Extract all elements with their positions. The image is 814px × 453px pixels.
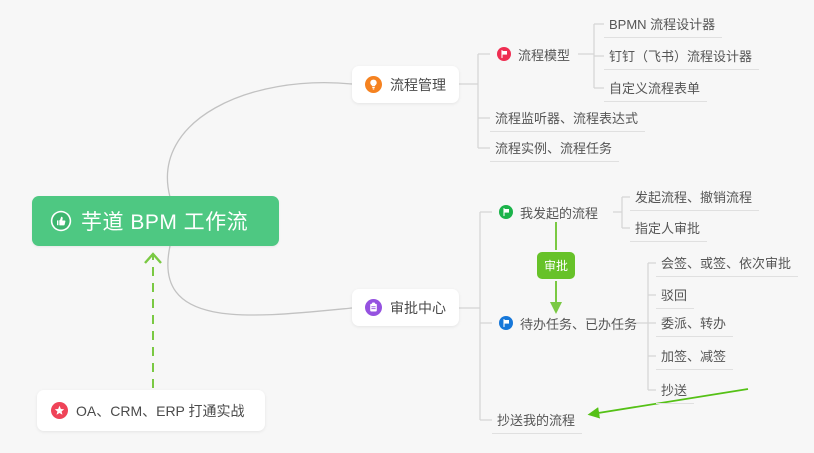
branch-node-approval-center[interactable]: 审批中心 bbox=[352, 289, 459, 326]
note-node-integration[interactable]: OA、CRM、ERP 打通实战 bbox=[37, 390, 265, 431]
topic-cc-my-process[interactable]: 抄送我的流程 bbox=[492, 406, 582, 434]
topic-label-process-listener: 流程监听器、流程表达式 bbox=[495, 108, 638, 127]
topic-assigned-approval[interactable]: 指定人审批 bbox=[630, 214, 707, 242]
topic-bpmn-designer[interactable]: BPMN 流程设计器 bbox=[604, 10, 722, 38]
topic-label-todo-done-tasks: 待办任务、已办任务 bbox=[520, 314, 637, 333]
note-node-label: OA、CRM、ERP 打通实战 bbox=[76, 401, 245, 421]
topic-delegate-transfer[interactable]: 委派、转办 bbox=[656, 309, 733, 337]
connector-root-to-approval bbox=[168, 246, 352, 315]
topic-label-dingtalk-designer: 钉钉（飞书）流程设计器 bbox=[609, 46, 752, 65]
topic-todo-done-tasks[interactable]: 待办任务、已办任务 bbox=[494, 309, 644, 337]
topic-reject[interactable]: 驳回 bbox=[656, 281, 694, 309]
thumbs-up-icon bbox=[50, 210, 72, 232]
topic-add-remove-sign[interactable]: 加签、减签 bbox=[656, 342, 733, 370]
topic-label-process-model: 流程模型 bbox=[518, 45, 570, 64]
topic-label-cc-my-process: 抄送我的流程 bbox=[497, 410, 575, 429]
lightbulb-icon bbox=[365, 76, 382, 93]
branch-label-process-management: 流程管理 bbox=[390, 75, 446, 95]
flag-icon bbox=[499, 205, 513, 219]
topic-custom-form[interactable]: 自定义流程表单 bbox=[604, 74, 707, 102]
flag-icon bbox=[497, 47, 511, 61]
topic-label-my-started-process: 我发起的流程 bbox=[520, 203, 598, 222]
topic-cc[interactable]: 抄送 bbox=[656, 376, 694, 404]
star-icon bbox=[51, 402, 68, 419]
topic-my-started-process[interactable]: 我发起的流程 bbox=[494, 198, 605, 226]
topic-label-add-remove-sign: 加签、减签 bbox=[661, 346, 726, 365]
topic-label-delegate-transfer: 委派、转办 bbox=[661, 313, 726, 332]
callout-approval-label: 审批 bbox=[544, 257, 568, 274]
topic-label-bpmn-designer: BPMN 流程设计器 bbox=[609, 14, 715, 33]
root-node-label: 芋道 BPM 工作流 bbox=[81, 206, 248, 236]
root-node[interactable]: 芋道 BPM 工作流 bbox=[32, 196, 279, 246]
topic-countersign[interactable]: 会签、或签、依次审批 bbox=[656, 249, 798, 277]
connector-root-to-process bbox=[167, 83, 352, 197]
flag-icon bbox=[499, 316, 513, 330]
topic-process-model[interactable]: 流程模型 bbox=[492, 40, 577, 68]
topic-process-listener[interactable]: 流程监听器、流程表达式 bbox=[490, 104, 645, 132]
branch-label-approval-center: 审批中心 bbox=[390, 298, 446, 318]
branch-node-process-management[interactable]: 流程管理 bbox=[352, 66, 459, 103]
topic-label-custom-form: 自定义流程表单 bbox=[609, 78, 700, 97]
topic-label-assigned-approval: 指定人审批 bbox=[635, 218, 700, 237]
topic-dingtalk-designer[interactable]: 钉钉（飞书）流程设计器 bbox=[604, 42, 759, 70]
topic-label-countersign: 会签、或签、依次审批 bbox=[661, 253, 791, 272]
topic-start-cancel-process[interactable]: 发起流程、撤销流程 bbox=[630, 183, 759, 211]
clipboard-icon bbox=[365, 299, 382, 316]
mindmap-canvas: 芋道 BPM 工作流 流程管理 流程模型 流程监听器、流程表达式 流程实例、流 bbox=[0, 0, 814, 453]
topic-process-instance[interactable]: 流程实例、流程任务 bbox=[490, 134, 619, 162]
callout-approval[interactable]: 审批 bbox=[537, 252, 575, 279]
topic-label-process-instance: 流程实例、流程任务 bbox=[495, 138, 612, 157]
topic-label-start-cancel-process: 发起流程、撤销流程 bbox=[635, 187, 752, 206]
topic-label-reject: 驳回 bbox=[661, 285, 687, 304]
topic-label-cc: 抄送 bbox=[661, 380, 687, 399]
